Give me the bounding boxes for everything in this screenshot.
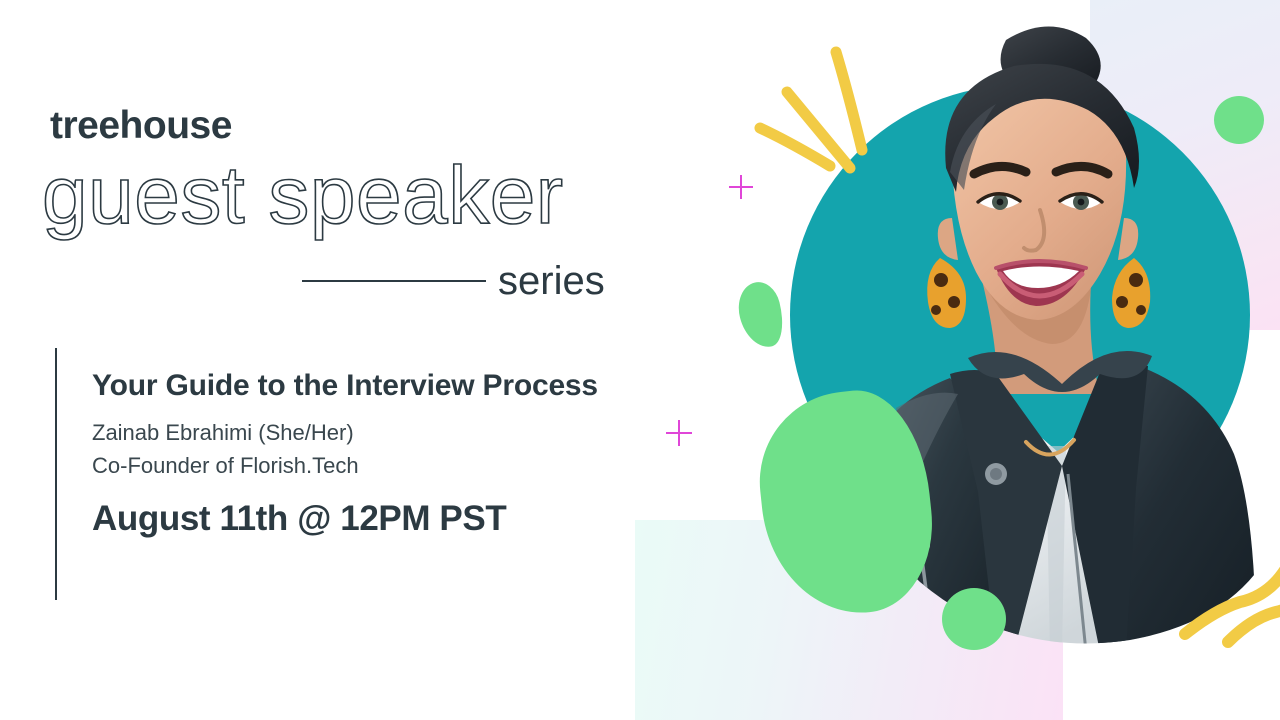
headline-outline-text: guest speaker [42, 155, 564, 237]
speaker-role: Co-Founder of Florish.Tech [92, 450, 632, 482]
green-bean-decoration-small [733, 278, 790, 352]
promo-graphic-canvas: treehouse guest speaker series Your Guid… [0, 0, 1280, 720]
event-detail-block: Your Guide to the Interview Process Zain… [92, 366, 632, 538]
series-word: series [498, 258, 605, 304]
magenta-plus-icon-upper [729, 175, 753, 199]
talk-title: Your Guide to the Interview Process [92, 366, 632, 405]
green-circle-decoration-bottom [942, 588, 1006, 650]
magenta-plus-icon-lower [666, 420, 692, 446]
event-datetime: August 11th @ 12PM PST [92, 500, 632, 539]
text-column: treehouse guest speaker series Your Guid… [0, 0, 660, 720]
detail-vertical-rule [55, 348, 57, 600]
series-divider-rule [302, 280, 486, 282]
series-row: series [300, 258, 630, 304]
speaker-name: Zainab Ebrahimi (She/Her) [92, 417, 632, 449]
brand-name: treehouse [50, 106, 232, 145]
